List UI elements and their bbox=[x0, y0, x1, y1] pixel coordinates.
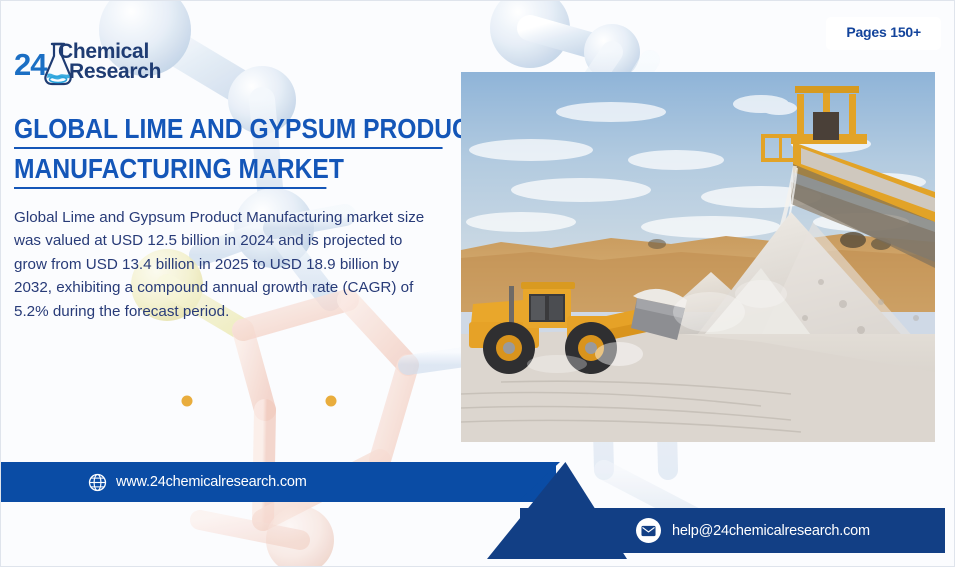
pages-badge-label: Pages 150+ bbox=[846, 24, 921, 40]
envelope-icon bbox=[636, 518, 661, 543]
quarry-photo bbox=[461, 72, 935, 442]
page-title: GLOBAL LIME AND GYPSUM PRODUCT MANUFACTU… bbox=[14, 112, 444, 192]
brand-logo: 24 Chemical Research bbox=[14, 33, 174, 91]
page-title-line-2: MANUFACTURING MARKET bbox=[14, 152, 326, 189]
logo-word-research: Research bbox=[69, 60, 161, 84]
email-address: help@24chemicalresearch.com bbox=[672, 523, 870, 539]
report-cover: 24 Chemical Research Pages 150+ GLOBAL L… bbox=[0, 0, 955, 567]
website-link[interactable]: www.24chemicalresearch.com bbox=[88, 462, 307, 502]
globe-icon bbox=[88, 473, 107, 492]
website-url: www.24chemicalresearch.com bbox=[116, 474, 307, 490]
market-summary-text: Global Lime and Gypsum Product Manufactu… bbox=[14, 206, 432, 323]
page-title-line-1: GLOBAL LIME AND GYPSUM PRODUCT bbox=[14, 112, 443, 149]
email-link[interactable]: help@24chemicalresearch.com bbox=[636, 508, 870, 553]
pages-badge: Pages 150+ bbox=[826, 17, 941, 50]
